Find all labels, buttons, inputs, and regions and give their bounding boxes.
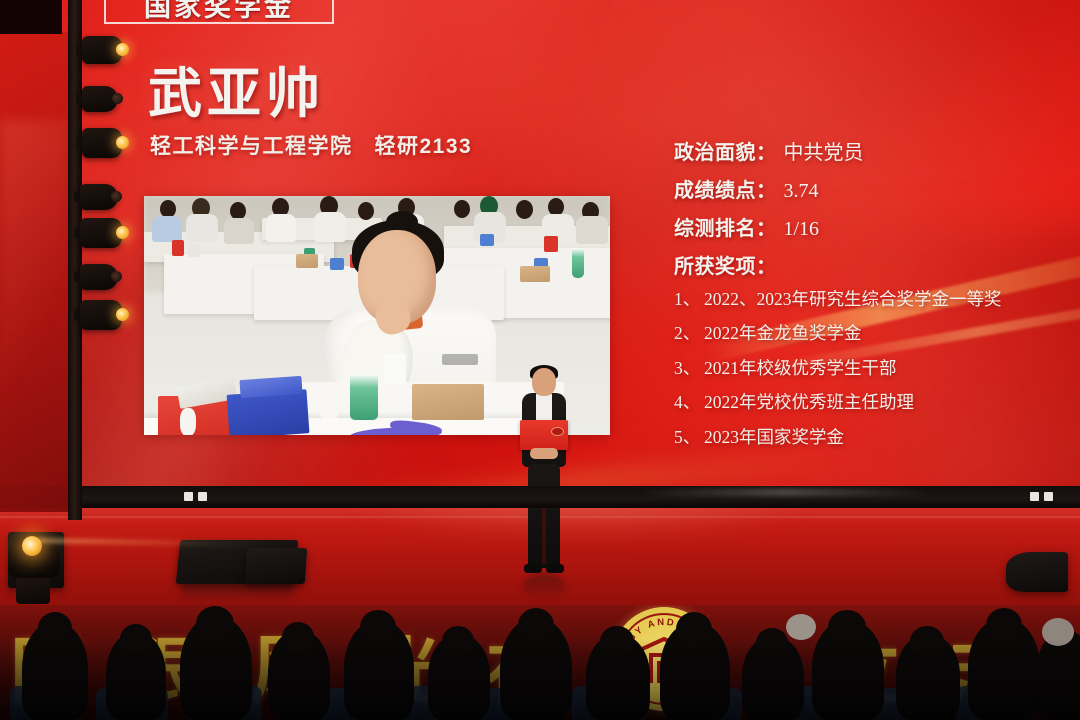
bezel-sheen <box>640 488 930 496</box>
student-name: 武亚帅 <box>148 66 325 123</box>
light-lamp-off <box>112 93 123 104</box>
moving-head-light <box>4 524 66 604</box>
folder-seal-icon <box>551 427 564 436</box>
award-number: 5、 <box>674 428 704 446</box>
bezel-marker <box>1030 492 1039 501</box>
info-label-political: 政治面貌： <box>674 136 777 165</box>
presenter-on-stage <box>516 368 572 583</box>
presenter-red-folder <box>520 420 568 450</box>
hall-person-body <box>266 214 296 242</box>
hall-box <box>296 254 318 268</box>
glassware <box>384 354 406 384</box>
hall-person-body <box>576 216 608 244</box>
award-item: 1、2022、2023年研究生综合奖学金一等奖 <box>674 290 1070 308</box>
stage-light-5 <box>74 218 132 248</box>
audience-head <box>360 610 396 644</box>
bezel-marker <box>198 492 207 501</box>
presenter-hands <box>530 448 558 459</box>
stage-light-1 <box>76 36 132 64</box>
award-item: 2、2022年金龙鱼奖学金 <box>674 324 1070 342</box>
hall-cup <box>480 234 494 246</box>
award-text: 2021年校级优秀学生干部 <box>704 358 897 378</box>
bezel-marker <box>184 492 193 501</box>
award-number: 1、 <box>674 290 704 308</box>
hall-person-head <box>358 202 374 220</box>
award-item: 4、2022年党校优秀班主任助理 <box>674 393 1070 411</box>
audience-head-gray <box>786 614 816 640</box>
hall-person-body <box>224 218 254 244</box>
info-panel: 政治面貌： 中共党员 成绩绩点： 3.74 综测排名： 1/16 所获奖项： 1… <box>674 136 1070 462</box>
stage-light-3 <box>76 128 132 158</box>
audience-shadow-overlay <box>0 640 1080 720</box>
student-department-line: 轻工科学与工程学院轻研2133 <box>150 134 472 159</box>
info-label-rank: 综测排名： <box>674 212 777 241</box>
stage-light-4 <box>74 184 126 210</box>
stage-light-6 <box>74 264 126 290</box>
light-lamp-on <box>116 308 129 321</box>
lighting-truss <box>68 0 82 520</box>
audience-head <box>518 608 554 642</box>
student-class: 轻研2133 <box>375 135 473 158</box>
hall-person-head <box>454 200 470 218</box>
floor-light-glow <box>300 508 860 588</box>
awards-title: 所获奖项： <box>674 250 1070 279</box>
audience-head <box>196 606 234 642</box>
info-row: 政治面貌： 中共党员 <box>674 136 1070 165</box>
hall-cup <box>188 244 200 257</box>
box-glass-icon <box>180 408 196 435</box>
info-row: 综测排名： 1/16 <box>674 212 1070 241</box>
cardboard-box <box>412 384 484 420</box>
stage-object-right <box>1006 552 1068 592</box>
bezel-marker <box>1044 492 1053 501</box>
info-row: 成绩绩点： 3.74 <box>674 174 1070 203</box>
student-department: 轻工科学与工程学院 <box>150 135 353 158</box>
hall-person-head <box>516 200 533 219</box>
subject-coat-logo <box>442 354 478 365</box>
slide-header-box: 国家奖学金 <box>104 0 334 24</box>
hall-person-body <box>152 216 182 242</box>
led-screen-bezel <box>0 486 1080 508</box>
light-lamp-off <box>111 191 122 202</box>
slide-header-title: 国家奖学金 <box>144 0 294 22</box>
award-number: 4、 <box>674 393 704 411</box>
white-cup <box>320 392 338 418</box>
audience-head <box>828 610 866 644</box>
presenter-shirt <box>536 394 552 420</box>
info-label-gpa: 成绩绩点： <box>674 174 777 203</box>
info-value-rank: 1/16 <box>784 218 820 241</box>
hall-cup <box>172 240 184 256</box>
stage-monitor-speaker <box>245 548 308 584</box>
hall-cup <box>544 236 558 252</box>
presenter-floor-reflection <box>522 574 566 600</box>
award-text: 2022年金龙鱼奖学金 <box>704 323 862 343</box>
hall-box <box>520 266 550 282</box>
presenter-head <box>532 368 556 396</box>
hall-person-body <box>186 214 218 242</box>
hall-bottle <box>572 248 584 278</box>
award-text: 2022年党校优秀班主任助理 <box>704 392 914 412</box>
award-text: 2023年国家奖学金 <box>704 427 844 447</box>
award-number: 3、 <box>674 359 704 377</box>
light-lamp-on <box>116 226 129 239</box>
water-bottle <box>350 374 378 420</box>
info-value-gpa: 3.74 <box>784 180 819 203</box>
light-lamp-on <box>116 136 129 149</box>
light-lamp-on <box>116 43 129 56</box>
stage-light-7 <box>74 300 132 330</box>
award-number: 2、 <box>674 324 704 342</box>
left-panel-sheen <box>0 120 70 420</box>
audience-head <box>986 608 1022 642</box>
presenter-shoe-right <box>546 564 564 573</box>
award-item: 3、2021年校级优秀学生干部 <box>674 359 1070 377</box>
info-value-political: 中共党员 <box>784 136 864 165</box>
award-item: 5、2023年国家奖学金 <box>674 428 1070 446</box>
award-text: 2022、2023年研究生综合奖学金一等奖 <box>704 289 1002 309</box>
stage-light-2 <box>76 86 126 112</box>
light-lamp-off <box>111 271 122 282</box>
presentation-stage-photo: 国家奖学金 武亚帅 轻工科学与工程学院轻研2133 <box>0 0 1080 720</box>
monitor-reflection <box>182 582 294 604</box>
top-left-dark-corner <box>0 0 62 34</box>
presenter-shoe-left <box>524 564 542 573</box>
